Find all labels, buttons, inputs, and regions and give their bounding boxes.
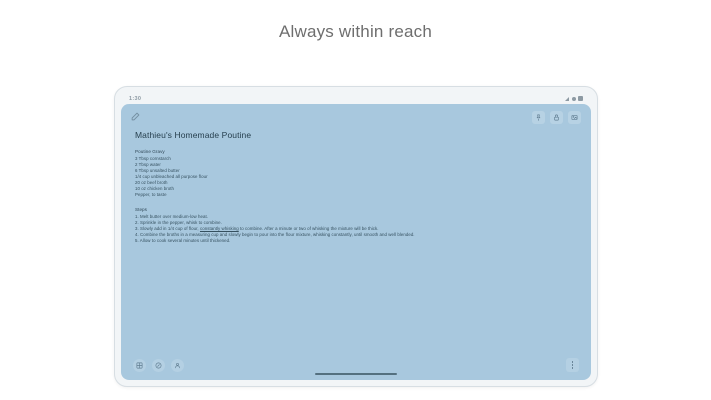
- more-options-icon[interactable]: [566, 358, 579, 372]
- image-icon[interactable]: [568, 111, 581, 124]
- section-heading-steps: Steps: [135, 207, 577, 212]
- battery-icon: [578, 96, 583, 101]
- pen-icon[interactable]: [131, 108, 140, 126]
- status-bar: 1:30: [121, 93, 591, 104]
- status-bar-time: 1:30: [129, 96, 141, 102]
- page-title: Always within reach: [0, 22, 711, 42]
- status-bar-icons: [565, 96, 583, 101]
- signal-icon: [565, 97, 569, 101]
- grid-icon[interactable]: [133, 359, 146, 372]
- pin-icon[interactable]: [532, 111, 545, 124]
- person-icon[interactable]: [171, 359, 184, 372]
- step-line: 5. Allow to cook several minutes until t…: [135, 238, 577, 244]
- note-title: Mathieu's Homemade Poutine: [135, 130, 577, 140]
- home-indicator: [315, 373, 397, 376]
- note-surface: Mathieu's Homemade Poutine Poutine Gravy…: [121, 104, 591, 380]
- section-heading-gravy: Poutine Gravy: [135, 149, 577, 154]
- palette-icon[interactable]: [152, 359, 165, 372]
- step3-underlined-phrase: constantly whisking: [200, 226, 239, 231]
- step3-after: to combine. After a minute or two of whi…: [239, 226, 379, 231]
- tablet-device-frame: 1:30: [114, 86, 598, 387]
- note-top-toolbar: [121, 104, 591, 130]
- step3-before: 3. Slowly add in 1/4 cup of flour,: [135, 226, 200, 231]
- lock-icon[interactable]: [550, 111, 563, 124]
- note-body[interactable]: Mathieu's Homemade Poutine Poutine Gravy…: [121, 130, 591, 350]
- wifi-icon: [572, 97, 576, 101]
- note-bottom-toolbar: [121, 350, 591, 380]
